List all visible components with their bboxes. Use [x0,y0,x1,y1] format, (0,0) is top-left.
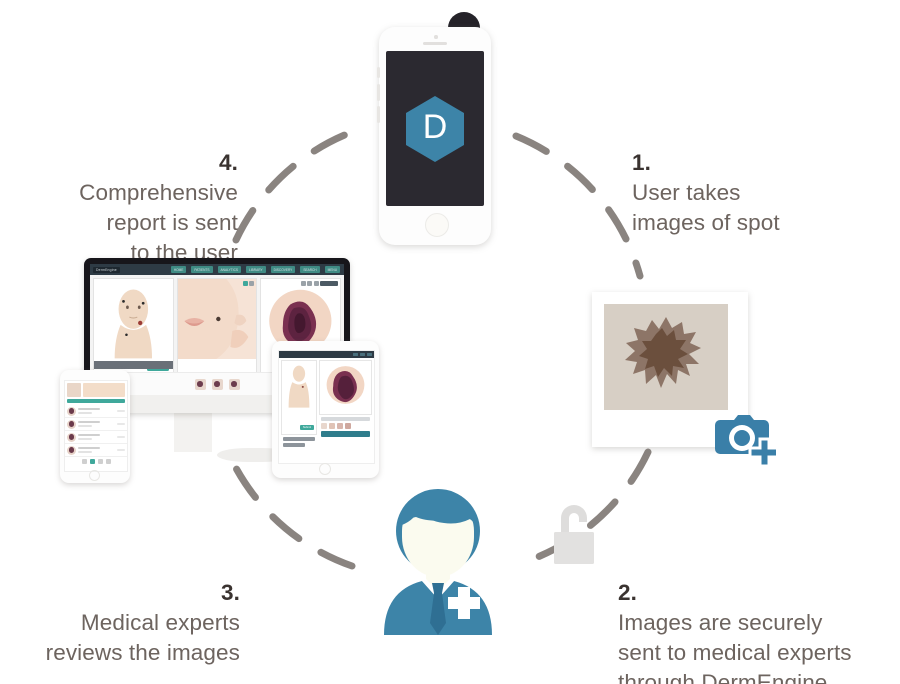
tablet-thumbnail-strip[interactable] [319,423,372,429]
tablet-meta-bar [283,443,305,447]
lesion-thumbnail [67,446,76,455]
devices-cluster: DermEngine HOME PATIENTS ANALYTICS LIBRA… [60,258,380,483]
list-item[interactable] [65,418,127,431]
lesion-thumbnail [67,407,76,416]
list-item-text [78,434,115,439]
tablet-image-column[interactable] [319,360,372,449]
tablet-nav-icon[interactable] [367,353,372,356]
infographic-canvas: 1. User takes images of spot 2. Images a… [0,0,900,684]
padlock-icon [548,500,600,568]
nav-item-library[interactable]: LIBRARY [246,266,266,272]
thumbnail-item[interactable] [321,423,327,429]
visual-search-button[interactable] [320,281,338,286]
tablet-slider-bar[interactable] [321,417,370,421]
phone-earpiece-speaker [423,42,447,45]
step-4-number: 4. [219,150,238,175]
phone-tab-bar[interactable] [65,457,127,466]
panel-zoom-icon[interactable] [314,281,319,286]
nav-item-menu[interactable]: MENU [325,266,340,272]
tab-home-icon[interactable] [82,459,87,464]
tablet-screen: Submit [278,350,375,464]
lesion-thumbnail [67,420,76,429]
step-2-text: Images are securely sent to medical expe… [618,610,852,684]
phone-body-map-preview[interactable] [83,383,125,397]
nav-item-patients[interactable]: PATIENTS [191,266,212,272]
phone-thumb-preview[interactable] [67,383,81,397]
tablet-nav-icon[interactable] [360,353,365,356]
step-2-number: 2. [618,580,637,605]
logo-letter: D [404,95,466,163]
nav-item-search[interactable]: SEARCH [300,266,319,272]
phone-volume-down-button [377,106,380,123]
lesion-thumbnail [67,433,76,442]
phone-screen [64,380,128,472]
list-item[interactable] [65,431,127,444]
phone-home-button[interactable] [425,213,449,237]
thumbnail-item[interactable] [337,423,343,429]
list-item-meta [117,449,125,451]
nav-item-home[interactable]: HOME [171,266,187,272]
tablet-body-map-card[interactable]: Submit [281,360,317,435]
list-item-text [78,421,115,426]
monitor-stand-neck [174,410,212,452]
panel-expand-icon[interactable] [243,281,248,286]
tablet-app-bar [279,351,374,358]
app-nav[interactable]: HOME PATIENTS ANALYTICS LIBRARY DISCOVER… [171,266,340,272]
list-item-text [78,408,115,413]
list-item[interactable] [65,405,127,418]
step-3-text: Medical experts reviews the images [46,610,240,665]
tablet-home-button[interactable] [319,463,331,475]
tablet-submit-button[interactable]: Submit [300,425,314,430]
app-top-bar: DermEngine HOME PATIENTS ANALYTICS LIBRA… [90,264,344,275]
tablet-columns: Submit [279,358,374,451]
thumbnail-item[interactable] [329,423,335,429]
step-1-text: User takes images of spot [632,180,780,235]
thumbnail-item[interactable] [212,379,223,390]
tab-camera-icon[interactable] [90,459,95,464]
phone-device[interactable] [60,370,130,483]
clinical-panel-toolbar[interactable] [243,281,255,286]
tablet-meta-bar [283,437,315,441]
thumbnail-item[interactable] [229,379,240,390]
list-item[interactable] [65,444,127,457]
step-3-caption: 3. Medical experts reviews the images [8,548,240,668]
panel-status-bar [94,361,173,369]
list-item-meta [117,410,125,412]
phone-volume-up-button [377,84,380,101]
panel-prev-icon[interactable] [301,281,306,286]
phone-screen: D [386,51,484,206]
tablet-nav-icon[interactable] [353,353,358,356]
app-brand-label: DermEngine [93,267,120,273]
lesion-photo [604,304,728,410]
step-4-text: Comprehensive report is sent to the user [79,180,238,265]
dermoscopy-panel-toolbar[interactable] [301,281,339,286]
camera-add-icon[interactable] [700,412,776,468]
tablet-dermoscopy-card[interactable] [319,360,372,415]
panel-settings-icon[interactable] [249,281,254,286]
phone-home-button[interactable] [89,470,100,481]
list-item-text [78,447,115,452]
list-item-meta [117,436,125,438]
doctor-icon [372,487,504,635]
list-item-meta [117,423,125,425]
phone-header [65,381,127,399]
phone-front-camera [434,35,438,39]
dermengine-hexagon-logo: D [404,95,466,163]
thumbnail-item[interactable] [195,379,206,390]
tablet-primary-action-bar[interactable] [321,431,370,437]
nav-item-analytics[interactable]: ANALYTICS [218,266,241,272]
panel-next-icon[interactable] [307,281,312,286]
tab-profile-icon[interactable] [106,459,111,464]
step-3-number: 3. [221,580,240,605]
thumbnail-item[interactable] [345,423,351,429]
step-4-caption: 4. Comprehensive report is sent to the u… [8,118,238,268]
tablet-body-map-column[interactable]: Submit [281,360,317,449]
phone-status-pill [67,399,125,403]
tab-list-icon[interactable] [98,459,103,464]
step-1-number: 1. [632,150,651,175]
smartphone-device[interactable]: D [379,27,491,245]
step-2-caption: 2. Images are securely sent to medical e… [618,548,898,684]
phone-mute-switch [377,67,380,78]
step-1-caption: 1. User takes images of spot [632,118,882,238]
tablet-device[interactable]: Submit [272,341,379,478]
nav-item-discovery[interactable]: DISCOVERY [271,266,296,272]
